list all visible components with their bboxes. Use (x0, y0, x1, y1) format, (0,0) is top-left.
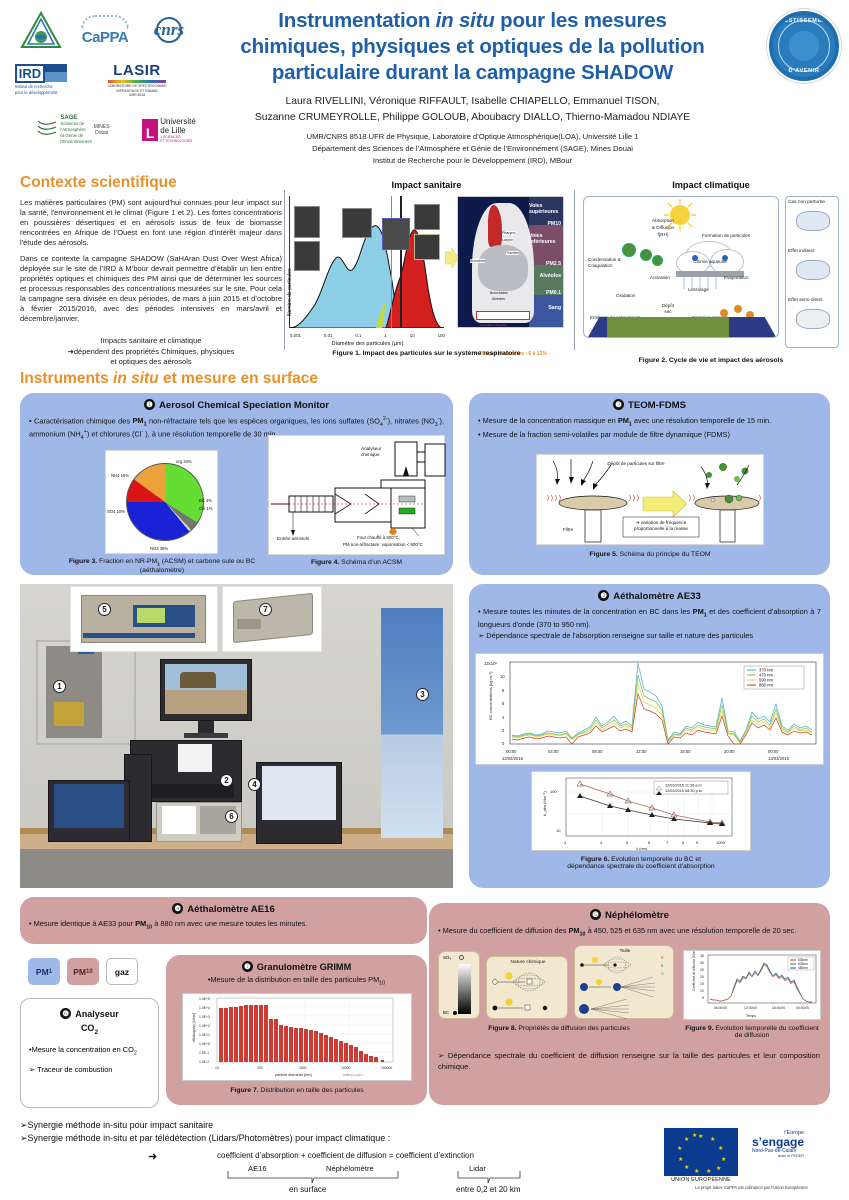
svg-text:12/03/2015: 12/03/2015 (502, 756, 524, 761)
logo-lasir-subtitle: LABORATOIRE DE SPECTROCHIMIE INFRAROUGE … (108, 84, 167, 98)
label-depot-particules: Dépôt de particules sur filtre (607, 461, 665, 467)
card-acsm: ❶Aerosol Chemical Speciation Monitor • C… (20, 393, 453, 575)
svg-text:7: 7 (666, 840, 669, 845)
teom-bullet-2: • Mesure de la fraction semi-volatiles p… (478, 430, 821, 440)
card-nephelometre: ❺Néphélomètre • Mesure du coefficient de… (429, 903, 830, 1105)
svg-text:100000: 100000 (381, 1066, 392, 1070)
conclusion-sub-surface: en surface (289, 1184, 326, 1196)
svg-text:100: 100 (550, 789, 557, 794)
svg-text:12:00: 12:00 (636, 749, 647, 754)
conclusion-arrow: ➜ (148, 1149, 157, 1165)
teom-b1-b: avec une résolution temporelle de 15 min… (632, 416, 771, 425)
svg-text:10: 10 (700, 989, 704, 993)
nephelo-title-text: Néphélomètre (605, 910, 669, 921)
svg-text:B: B (661, 964, 664, 968)
context-closing-2: ➜dépendent des propriétés Chimiques, phy… (68, 347, 235, 356)
authors-line-1: Laura RIVELLINI, Véronique RIFFAULT, Isa… (195, 94, 750, 110)
label-depot-sec: Dépôt sec (658, 303, 678, 314)
lung-inner-bronchioles: Bronchioles (490, 291, 508, 295)
card-ae33: ❷Aéthalomètre AE33 • Mesure toutes les m… (469, 584, 830, 888)
figure9-caption: Figure 9. Evolution temporelle du coeffi… (683, 1025, 821, 1039)
label-taille: Taille (575, 949, 675, 954)
instruments-heading: Instruments in situ et mesure en surface (20, 370, 318, 388)
grimm-title-text: Granulomètre GRIMM (257, 962, 351, 972)
context-closing-3: et optiques des aérosols (110, 357, 191, 366)
svg-text:12/03/2015 11:30 a.m: 12/03/2015 11:30 a.m (665, 784, 702, 788)
photo-callout-2: 2 (220, 774, 233, 787)
label-so4: SO₄ (443, 955, 451, 960)
sem-image-4 (382, 218, 410, 250)
figure5-panel: Dépôt de particules sur filtre Filtre ➜ … (536, 454, 764, 545)
logo-ird: IRD Institut de recherche pour le dévelo… (15, 64, 67, 95)
title-part-1: Instrumentation (278, 9, 435, 32)
instruments-heading-b: et mesure en surface (159, 370, 318, 387)
label-formation-particules: Formation de particules (702, 233, 750, 239)
ae16-title: ❹Aéthalomètre AE16 (20, 897, 427, 915)
context-paragraph-2: Dans ce contexte la campagne SHADOW (SaH… (20, 254, 282, 324)
acsm-body-end: ), à une résolution temporelle de 30 min… (143, 430, 277, 439)
conclusion-sub-lidar: entre 0,2 et 20 km (456, 1184, 520, 1196)
label-analyseur-chimique: Analyseur chimique (361, 446, 397, 458)
instruments-heading-italic: in situ (113, 370, 159, 387)
grimm-size-distribution-plot: 1.0E+51.0E+41.0E+3 1.0E+21.0E+11.0E+0 1.… (183, 994, 413, 1082)
grimm-body-pm: PM (368, 975, 379, 984)
lung-inner-circulation: circulation sanguine (480, 323, 507, 327)
nephelo-title: ❺Néphélomètre (429, 903, 830, 921)
lung-label-alveoles: Alvéoles (540, 273, 561, 279)
figure2-wrapper: Absorption & Diffusion f(RH) Formation d… (583, 196, 839, 358)
figure3-pie-chart (126, 463, 204, 541)
svg-text:20: 20 (700, 975, 704, 979)
lung-inner-alveoles: Alvéoles (492, 297, 505, 301)
logo-universite-lille: L Université de Lille 1 SCIENCES ET TECH… (142, 117, 196, 143)
ae16-title-text: Aéthalomètre AE16 (187, 904, 275, 915)
figure1-ylabel: Nombre de particules (287, 268, 293, 316)
avenir-face-icon (789, 31, 819, 61)
pm-legend-tags: PM1 PM10 gaz (28, 958, 138, 985)
fig7-cap-a: Figure 7. (230, 1087, 258, 1094)
svg-text:04:00: 04:00 (548, 749, 559, 754)
tag-pm10: PM10 (67, 958, 99, 985)
context-closing: Impacts sanitaire et climatique ➜dépende… (20, 336, 282, 369)
lung-inner-trachee: Trachée (506, 251, 519, 255)
title-part-2: chimiques, physiques et optiques de la p… (240, 35, 704, 58)
absorption-spectral-plot: 10010 345 678 91000 b_abs (Mm⁻¹) λ (nm) (532, 772, 752, 852)
logo-ird-label: IRD (15, 64, 45, 83)
label-effet-indirect: Effet indirect (788, 249, 815, 254)
xtick-1: 0.01 (324, 333, 333, 338)
engage-feder-label: avec le FEDER (752, 1154, 804, 1158)
figure1-xticks: 0.001 0.01 0.1 1 10 100 (290, 333, 445, 338)
svg-text:13/03/2015: 13/03/2015 (768, 756, 790, 761)
label-lessivage: Lessivage (688, 287, 709, 293)
aerosol-cycle-diagram: Absorption & Diffusion f(RH) Formation d… (583, 196, 779, 338)
eu-flag-icon: ★ ★ ★ ★ ★ ★ ★ ★ ★ ★ ★ ★ (664, 1128, 738, 1176)
svg-text:8: 8 (682, 840, 685, 845)
lung-inner-pharynx: Pharynx (502, 231, 515, 235)
impact-sanitaire-title: Impact sanitaire (289, 180, 564, 190)
logo-mines-label: MINES Douai (94, 124, 110, 136)
conclusion-section: ➢Synergie méthode in-situ pour impact sa… (20, 1119, 540, 1194)
lung-label-pm10: PM10 (547, 221, 561, 227)
acsm-body-pre: • Caractérisation chimique des (29, 416, 132, 425)
teom-b1-pm: PM (618, 416, 629, 425)
title-part-1b: pour les mesures (495, 9, 667, 32)
label-oxidation: Oxidation (616, 293, 635, 299)
fig3-cap-a: Figure 3. (69, 558, 97, 565)
photo-callout-4: 4 (248, 778, 261, 791)
ae16-body-pm: PM (135, 919, 146, 928)
ae16-number: ❹ (172, 903, 183, 914)
acsm-number: ❶ (144, 399, 155, 410)
teom-body: • Mesure de la concentration massique en… (469, 411, 830, 440)
svg-text:1.0E+0: 1.0E+0 (199, 1042, 210, 1046)
teom-bullet-1: • Mesure de la concentration massique en… (478, 416, 821, 429)
svg-text:1.0E-2: 1.0E-2 (199, 1060, 209, 1064)
svg-text:10000: 10000 (341, 1066, 351, 1070)
radiative-effects-panel: Cas non perturbe Effet indirect Effet se… (785, 196, 839, 348)
logo-triangle-green (20, 11, 62, 49)
logo-sage-subtitle: Sciences de l'Atmosphère et Génie de l'E… (60, 121, 91, 145)
figure2-caption: Figure 2. Cycle de vie et impact des aér… (583, 357, 839, 364)
svg-text:b_abs (Mm⁻¹): b_abs (Mm⁻¹) (542, 791, 547, 816)
nephelo-body-b: à 450, 525 et 635 nm avec une résolution… (586, 926, 797, 935)
pie-label-chl: Chl 1% (199, 506, 213, 511)
label-absorption: Absorption (641, 218, 685, 224)
lille-mark-letter: L (142, 119, 158, 141)
eu-funding-caption: Le projet labex CaPPA est cofinancé par … (664, 1185, 839, 1190)
svg-text:8: 8 (502, 688, 505, 693)
logo-lasir-label: LASIR (108, 62, 167, 79)
affiliation-line-2: Département des Sciences de l’Atmosphère… (195, 143, 750, 155)
xtick-5: 100 (438, 333, 445, 338)
bc-timeseries-plot: 12x10³ 1086 420 00:0004:0008:00 12:0016:… (476, 654, 825, 766)
svg-text:880 nm: 880 nm (759, 683, 773, 688)
logo-grid: CaPPA cnrs IRD Institut de recherche pou… (10, 6, 200, 154)
photo-callout-6: 6 (225, 810, 238, 823)
figure5-caption: Figure 5. Schéma du principe du TEOM (536, 551, 764, 558)
svg-text:4: 4 (600, 840, 603, 845)
figure1-xlabel: Diamètre des particules (µm) (290, 341, 445, 347)
tag-pm1-sub: 1 (49, 968, 52, 975)
svg-text:00:00: 00:00 (768, 749, 779, 754)
svg-text:BC concentrations [ng m⁻³]: BC concentrations [ng m⁻³] (488, 672, 493, 720)
svg-text:9: 9 (696, 840, 699, 845)
instrument-photo: 5 7 1 2 3 4 6 (20, 584, 453, 888)
svg-text:20:00: 20:00 (724, 749, 735, 754)
teom-title: ❸TEOM-FDMS (469, 393, 830, 411)
svg-text:1000: 1000 (716, 840, 726, 845)
affiliation-line-3: Institut de Recherche pour le Développem… (195, 155, 750, 167)
affiliation-list: UMR/CNRS 8518 UFR de Physique, Laboratoi… (195, 131, 750, 168)
pie-label-no3: NO3 36% (150, 546, 168, 551)
figure6-spectral: 10010 345 678 91000 b_abs (Mm⁻¹) λ (nm) (531, 771, 751, 851)
svg-text:1.0E+2: 1.0E+2 (199, 1024, 210, 1028)
scattering-diagram-2: R B G (575, 955, 675, 1019)
svg-text:CMD [nm] 40.7: CMD [nm] 40.7 (343, 1073, 364, 1077)
svg-text:10: 10 (556, 828, 561, 833)
svg-text:λ (nm): λ (nm) (636, 846, 648, 851)
nephelo-body-a: • Mesure du coefficient de diffusion des (438, 926, 569, 935)
engage-main-label: s’engage (752, 1136, 804, 1148)
label-evaporation: Evaporation (724, 275, 749, 281)
figure8-caption: Figure 8. Propriétés de diffusion des pa… (469, 1025, 649, 1032)
context-paragraph-1: Les matières particulaires (PM) sont auj… (20, 198, 282, 248)
scattering-diagram-1 (487, 966, 569, 1020)
label-filtre: Filtre (563, 527, 573, 532)
tag-pm1-label: PM (36, 967, 49, 977)
logo-lille-label: Université de Lille (160, 117, 196, 135)
grimm-body-a: •Mesure de la distribution en taille des… (208, 975, 368, 984)
svg-text:00:00: 00:00 (506, 749, 517, 754)
acsm-body-rest3: ) et chlorures (Cl (87, 430, 142, 439)
figure9-panel: 353025 201510 5 06:00:0012:00:0018:00:00… (683, 950, 821, 1020)
label-four-chauffe: Four chauffé à 600°C. (357, 535, 400, 540)
svg-text:4: 4 (502, 715, 505, 720)
svg-text:15: 15 (700, 982, 704, 986)
co2-title: ❻Analyseur CO2 (21, 999, 158, 1037)
logo-lille-subtitle: 1 SCIENCES ET TECHNOLOGIES (160, 135, 196, 143)
sem-image-2 (294, 241, 320, 271)
fig4-cap-b: Schéma d’un ACSM (339, 559, 402, 566)
logo-cnrs-label: cnrs (154, 20, 184, 40)
svg-text:6: 6 (648, 840, 651, 845)
ae33-number: ❷ (598, 590, 609, 601)
label-chimie-aqueuse: Chimie aqueuse (692, 259, 728, 265)
title-part-3: particulaire durant la campagne SHADOW (272, 61, 673, 84)
svg-text:08:00: 08:00 (592, 749, 603, 754)
context-section: Contexte scientifique Les matières parti… (20, 174, 282, 368)
sem-image-3 (342, 208, 372, 238)
co2-title-a: Analyseur (75, 1009, 119, 1019)
ae33-bullet-2: ➢ Dépendance spectrale de l'absorption r… (478, 631, 821, 641)
svg-text:00:00:00: 00:00:00 (796, 1006, 809, 1010)
lung-label-voies-inferieures: Voies inférieures (529, 234, 561, 246)
card-teom-fdms: ❸TEOM-FDMS • Mesure de la concentration … (469, 393, 830, 575)
sem-image-1 (294, 206, 320, 238)
xtick-0: 0.001 (290, 333, 301, 338)
label-effet-semi-direct: Effet semi-direct (788, 298, 823, 303)
svg-text:1.0E-1: 1.0E-1 (199, 1051, 209, 1055)
fig6-cap-c: dépendance spectrale du coefficient d'ab… (567, 863, 714, 870)
teom-b1-a: • Mesure de la concentration massique en (478, 416, 618, 425)
authors-line-2: Suzanne CRUMEYROLLE, Philippe GOLOUB, Ab… (195, 110, 750, 126)
ird-flag-mark (45, 64, 67, 82)
svg-text:12x10³: 12x10³ (484, 661, 497, 666)
eu-union-label: UNION EUROPÉENNE (664, 1177, 738, 1183)
teom-number: ❸ (613, 399, 624, 410)
label-variation-frequence: ➜ variation de fréquence proportionnelle… (626, 520, 696, 532)
fig6-cap-a: Figure 6. (581, 856, 609, 863)
avenir-bottom-text: D’AVENIR (773, 68, 835, 74)
nephelo-conclusion: ➢ Dépendance spectrale du coefficient de… (438, 1051, 820, 1072)
svg-text:1.0E+5: 1.0E+5 (199, 997, 210, 1001)
context-closing-1: Impacts sanitaire et climatique (101, 336, 202, 345)
lung-label-sang: Sang (548, 305, 561, 311)
svg-text:10: 10 (500, 674, 505, 679)
photo-callout-1: 1 (53, 680, 66, 693)
label-cas-non-perturbe: Cas non perturbe (788, 200, 825, 205)
figure8-nature-panel: Nature chimique (486, 956, 568, 1019)
ae33-bullet-1: • Mesure toutes les minutes de la concen… (478, 607, 821, 630)
svg-text:G: G (661, 972, 664, 976)
co2-b1-a: •Mesure la concentration en CO (29, 1045, 134, 1054)
svg-text:2: 2 (502, 728, 505, 733)
svg-text:Temps: Temps (746, 1014, 756, 1018)
lung-inner-bronches: Bronches (470, 259, 485, 263)
mines-wave-icon (36, 117, 58, 143)
svg-text:1000: 1000 (299, 1066, 307, 1070)
conclusion-line-2: ➢Synergie méthode in-situ et par télédét… (20, 1132, 540, 1145)
svg-text:12:00:00: 12:00:00 (744, 1006, 757, 1010)
fig6-cap-b: Evolution temporelle du BC et (609, 856, 701, 863)
fig8-cap-a: Figure 8. (488, 1025, 516, 1032)
photo-inset-5 (70, 586, 218, 652)
tag-pm10-label: PM (73, 967, 86, 977)
acsm-body-rest: ), nitrates (NO (388, 416, 435, 425)
grimm-body-sub: 10 (379, 980, 385, 986)
svg-text:12/03/2015 08:30 p.m: 12/03/2015 08:30 p.m (665, 789, 702, 793)
svg-text:25: 25 (700, 968, 704, 972)
fig5-cap-b: Schéma du principe du TEOM (618, 551, 711, 558)
acsm-title: ❶Aerosol Chemical Speciation Monitor (20, 393, 453, 411)
conclusion-equation: coefficient d’absorption + coefficient d… (217, 1150, 474, 1162)
nephelo-body: • Mesure du coefficient de diffusion des… (429, 921, 830, 939)
author-list: Laura RIVELLINI, Véronique RIFFAULT, Isa… (195, 94, 750, 126)
svg-text:R: R (661, 956, 664, 960)
nephelo-number: ❺ (590, 909, 601, 920)
label-bc: BC (443, 1010, 449, 1015)
figure7-panel: 1.0E+51.0E+41.0E+3 1.0E+21.0E+11.0E+0 1.… (182, 993, 412, 1081)
label-pm-non-refractaire: PM non-réfractaire: vaporisation < 600°C (343, 542, 423, 547)
figure4-caption: Figure 4. Schéma d’un ACSM (268, 559, 445, 566)
card-co2-analyser: ❻Analyseur CO2 •Mesure la concentration … (20, 998, 159, 1108)
acsm-title-text: Aerosol Chemical Speciation Monitor (159, 400, 329, 411)
figure3-panel: org 34% BC 4% Chl 1% NO3 36% SO4 10% NH4… (105, 450, 218, 554)
ae16-body-b: à 880 nm avec une mesure toutes les minu… (152, 919, 307, 928)
svg-text:3: 3 (564, 840, 567, 845)
photo-callout-5: 5 (98, 603, 111, 616)
co2-title-sub: 2 (94, 1028, 98, 1035)
figure1-caption: Figure 1. Impact des particules sur le s… (289, 350, 564, 357)
xtick-4: 10 (410, 333, 415, 338)
svg-text:5: 5 (626, 840, 629, 845)
co2-b1-sub: 2 (134, 1050, 137, 1056)
acsm-pm: PM (132, 416, 143, 425)
sem-image-5 (414, 204, 440, 230)
label-nature-chimique: Nature chimique (487, 960, 569, 965)
lasir-rainbow-bar (108, 80, 166, 83)
svg-text:450nm: 450nm (798, 966, 808, 970)
poster-header: CaPPA cnrs IRD Institut de recherche pou… (0, 0, 849, 172)
svg-text:5: 5 (702, 996, 704, 1000)
page-title: Instrumentation in situ pour les mesures… (195, 8, 750, 87)
teom-title-text: TEOM-FDMS (628, 400, 686, 411)
ae33-title: ❷Aéthalomètre AE33 (469, 584, 830, 602)
label-activation: Activation (650, 275, 670, 281)
logo-ird-subtitle: Institut de recherche pour le développem… (15, 84, 58, 95)
acsm-body-mid: non-réfractaire tels que les espèces org… (147, 416, 380, 425)
impact-climatique-title: Impact climatique (583, 180, 839, 190)
ae16-body: • Mesure identique à AE33 pour PM10 à 88… (20, 915, 427, 932)
logo-mines-douai: SAGE Sciences de l'Atmosphère et Génie d… (36, 115, 109, 145)
pie-label-nh4: NH4 16% (111, 473, 129, 478)
fig3-cap-b: Fraction en NR-PM (97, 558, 157, 565)
fig9-cap-b: Evolution temporelle du coefficient de d… (714, 1025, 819, 1039)
figure1-wrapper: Nombre de particules 0.001 0.01 0.1 1 10… (289, 196, 564, 346)
logo-lasir: LASIR LABORATOIRE DE SPECTROCHIMIE INFRA… (108, 62, 167, 98)
grimm-title: ❼Granulomètre GRIMM (166, 955, 427, 972)
divider-left (284, 190, 285, 350)
tag-pm10-sub: 10 (86, 968, 93, 975)
figure7-caption: Figure 7. Distribution en taille des par… (182, 1087, 412, 1094)
logo-cappa: CaPPA (81, 15, 129, 46)
svg-text:100: 100 (257, 1066, 263, 1070)
label-condensation: Condensation & Coagulation (588, 257, 628, 268)
svg-text:30: 30 (700, 961, 704, 965)
svg-text:16:00: 16:00 (680, 749, 691, 754)
instruments-heading-a: Instruments (20, 370, 113, 387)
eu-footer: ★ ★ ★ ★ ★ ★ ★ ★ ★ ★ ★ ★ UNION EUROPÉENNE… (664, 1128, 839, 1190)
logo-cappa-label: CaPPA (82, 29, 128, 46)
figure8-taille-panel: Taille R B G (574, 945, 674, 1019)
photo-callout-3: 3 (416, 688, 429, 701)
svg-text:0: 0 (502, 741, 505, 746)
figure8-gradient-panel: SO₄ BC (438, 951, 480, 1019)
svg-text:35: 35 (700, 954, 704, 958)
figure6-timeseries: 12x10³ 1086 420 00:0004:0008:00 12:0016:… (475, 653, 824, 765)
fig4-cap-a: Figure 4. (311, 559, 339, 566)
svg-text:1.0E+3: 1.0E+3 (199, 1015, 210, 1019)
xtick-3: 1 (384, 333, 386, 338)
label-frh: f(RH) (641, 232, 685, 238)
fig5-cap-a: Figure 5. (589, 551, 617, 558)
respiratory-diagram: Voies supérieures PM10 Voies inférieures… (457, 196, 564, 328)
svg-text:1.0E+1: 1.0E+1 (199, 1033, 210, 1037)
conclusion-line-1: ➢Synergie méthode in-situ pour impact sa… (20, 1119, 540, 1132)
card-ae16: ❹Aéthalomètre AE16 • Mesure identique à … (20, 897, 427, 944)
co2-number: ❻ (60, 1008, 71, 1019)
photo-teom-cabinet (381, 608, 443, 838)
co2-bullet-2: ➢ Traceur de combustion (29, 1065, 150, 1076)
co2-bullet-1: •Mesure la concentration en CO2 (29, 1045, 150, 1058)
svg-text:1.0E+4: 1.0E+4 (199, 1006, 210, 1010)
lung-label-pm25: PM2.5 (546, 261, 561, 267)
card-grimm: ❼Granulomètre GRIMM •Mesure de la distri… (166, 955, 427, 1105)
ae16-body-a: • Mesure identique à AE33 pour (29, 919, 135, 928)
lung-label-voies-superieures: Voies supérieures (529, 204, 561, 216)
figure1-chart: Nombre de particules 0.001 0.01 0.1 1 10… (289, 196, 444, 328)
svg-text:Coefficient de diffusion (Mm⁻¹: Coefficient de diffusion (Mm⁻¹) (692, 951, 696, 991)
logo-investissements-davenir: INVESTISSEMENTS D’AVENIR (767, 9, 841, 83)
tag-pm1: PM1 (28, 958, 60, 985)
fig8-cap-b: Propriétés de diffusion des particules (517, 1025, 630, 1032)
ae33-b1-a: • Mesure toutes les minutes de la concen… (478, 607, 693, 616)
tag-gaz: gaz (106, 958, 138, 985)
pie-label-bc: BC 4% (199, 498, 212, 503)
figure3-caption: Figure 3. Fraction en NR-PM1 (ACSM) et c… (58, 558, 266, 574)
tag-gaz-label: gaz (115, 967, 129, 977)
sem-image-6 (414, 234, 440, 260)
ae33-b1-pm: PM (693, 607, 704, 616)
label-entree-aerosols: Entrée aérosols (277, 536, 309, 541)
photo-inset-7 (222, 586, 322, 652)
grimm-number: ❼ (242, 961, 253, 972)
svg-text:18:00:00: 18:00:00 (772, 1006, 785, 1010)
fig9-cap-a: Figure 9. (685, 1025, 713, 1032)
affiliation-line-1: UMR/CNRS 8518 UFR de Physique, Laboratoi… (195, 131, 750, 143)
logo-cnrs: cnrs (156, 17, 182, 43)
